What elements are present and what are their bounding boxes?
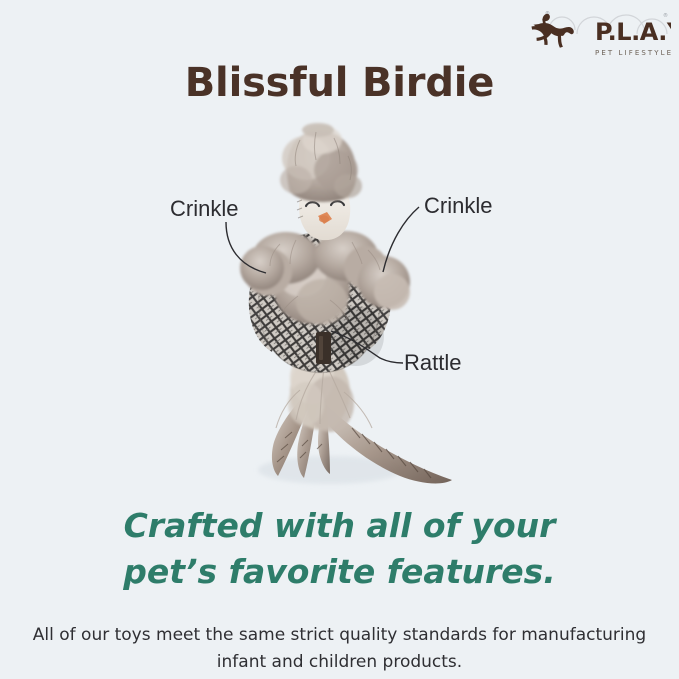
marketing-tagline: Crafted with all of your pet’s favorite … xyxy=(0,503,679,595)
product-infographic: ® ® P.L.A.Y. PET LIFESTYLE AND YOU Bliss… xyxy=(0,0,679,679)
footnote-line-2: infant and children products. xyxy=(0,649,679,676)
callout-label-rattle: Rattle xyxy=(404,350,461,376)
footnote-line-1: All of our toys meet the same strict qua… xyxy=(33,625,646,645)
tagline-line-1: Crafted with all of your xyxy=(124,506,556,545)
tagline-line-2: pet’s favorite features. xyxy=(0,549,679,595)
quality-footnote: All of our toys meet the same strict qua… xyxy=(0,622,679,676)
callout-label-crinkle-left: Crinkle xyxy=(170,196,238,222)
rattle-tag xyxy=(316,332,331,364)
callout-label-crinkle-right: Crinkle xyxy=(424,193,492,219)
fur-crest xyxy=(280,123,362,202)
